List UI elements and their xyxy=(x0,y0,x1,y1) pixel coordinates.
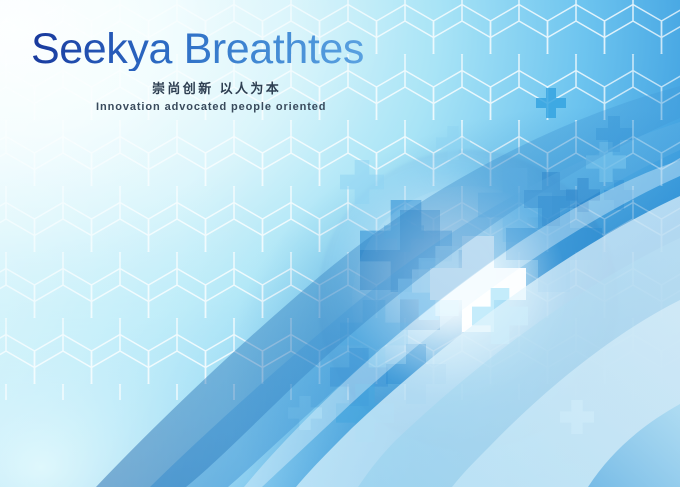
brand-title: Seekya Breathtes xyxy=(31,28,364,71)
slogan-english: Innovation advocated people oriented xyxy=(96,101,326,114)
swoosh-ribbons xyxy=(0,0,680,487)
poster-canvas: Seekya Breathtes 崇尚创新 以人为本 Innovation ad… xyxy=(0,0,680,487)
slogan-chinese: 崇尚创新 以人为本 xyxy=(152,82,281,96)
